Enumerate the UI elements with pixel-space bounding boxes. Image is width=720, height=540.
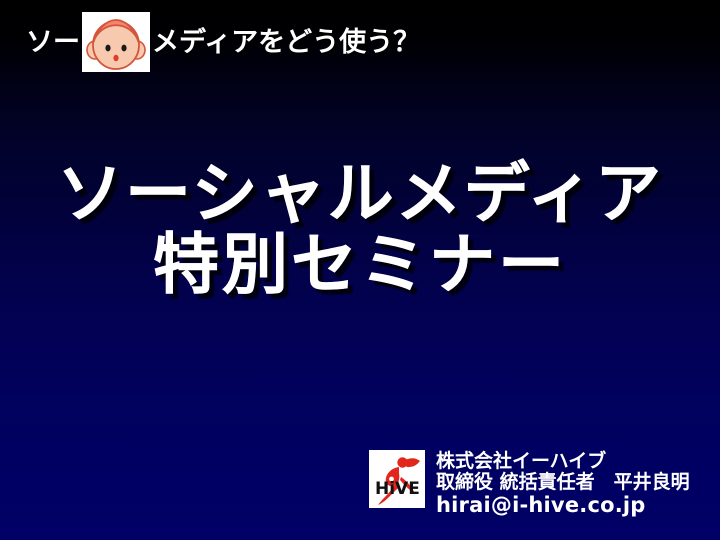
contact-email: hirai@i-hive.co.jp xyxy=(436,494,690,518)
company-name: 株式会社イーハイブ xyxy=(436,451,690,472)
header-text-before-icon: ソー xyxy=(26,29,80,56)
title-line-2: 特別セミナー xyxy=(0,229,720,300)
hive-logo: HiVE xyxy=(369,450,425,508)
role-and-person-name: 取締役 統括責任者 平井良明 xyxy=(436,472,690,493)
contact-block: 株式会社イーハイブ 取締役 統括責任者 平井良明 hirai@i-hive.co… xyxy=(436,450,690,518)
slide-title: ソーシャルメディア 特別セミナー xyxy=(0,158,720,301)
hive-wordmark: HiVE xyxy=(375,479,420,499)
header-text-after-icon: メディアをどう使う？ xyxy=(152,29,420,56)
slide-header: ソー メディアをどう使う？ xyxy=(26,18,420,66)
title-line-1: ソーシャルメディア xyxy=(0,158,720,229)
child-face-icon xyxy=(82,12,150,72)
slide-footer: HiVE 株式会社イーハイブ 取締役 統括責任者 平井良明 hirai@i-hi… xyxy=(369,450,690,518)
presentation-slide: ソー メディアをどう使う？ ソーシャルメディア 特別セミナー xyxy=(0,0,720,540)
